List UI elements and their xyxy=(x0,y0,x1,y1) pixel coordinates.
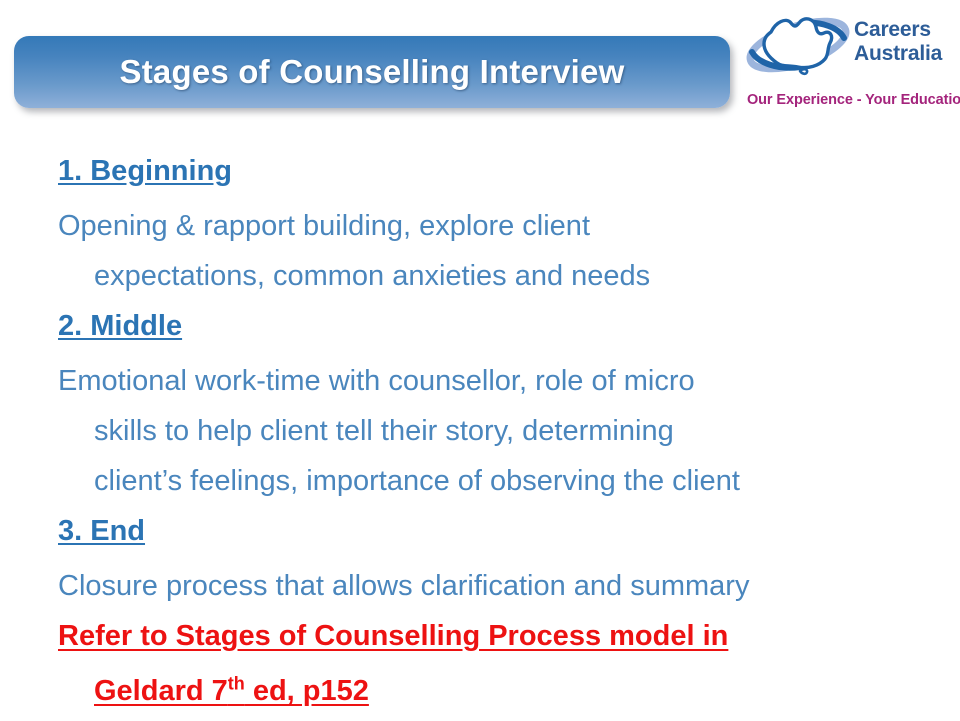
section-heading-row: 3. End xyxy=(58,506,918,561)
logo-brand-line-2: Australia xyxy=(854,42,942,66)
page-title: Stages of Counselling Interview xyxy=(120,53,625,91)
australia-map-swoosh-icon xyxy=(744,8,852,82)
logo-tagline: Our Experience - Your Education xyxy=(747,92,954,108)
reference-row: Refer to Stages of Counselling Process m… xyxy=(58,611,918,666)
section-heading-end: 3. End xyxy=(58,506,145,556)
logo-brand-line-1: Careers xyxy=(854,18,942,42)
section-heading-row: 2. Middle xyxy=(58,301,918,356)
logo-top-row: Careers Australia xyxy=(742,6,954,86)
section-heading-middle: 2. Middle xyxy=(58,301,182,351)
section-body-line: client’s feelings, importance of observi… xyxy=(58,456,918,506)
reference-line-2: Geldard 7th ed, p152 xyxy=(94,666,369,716)
reference-prefix: Geldard 7 xyxy=(94,675,228,707)
reference-suffix: ed, p152 xyxy=(245,675,369,707)
section-body-line: skills to help client tell their story, … xyxy=(58,406,918,456)
reference-line-1: Refer to Stages of Counselling Process m… xyxy=(58,611,728,661)
section-body-line: Emotional work-time with counsellor, rol… xyxy=(58,356,918,406)
reference-row: Geldard 7th ed, p152 xyxy=(58,666,918,721)
careers-australia-logo: Careers Australia Our Experience - Your … xyxy=(742,6,954,118)
section-body-line: Closure process that allows clarificatio… xyxy=(58,561,918,611)
section-heading-beginning: 1. Beginning xyxy=(58,146,232,196)
section-heading-row: 1. Beginning xyxy=(58,146,918,201)
logo-wordmark: Careers Australia xyxy=(854,18,942,65)
slide-title-banner: Stages of Counselling Interview xyxy=(14,36,730,108)
section-body-line: Opening & rapport building, explore clie… xyxy=(58,201,918,251)
slide-body: 1. Beginning Opening & rapport building,… xyxy=(58,146,918,721)
reference-superscript: th xyxy=(228,673,245,693)
section-body-line: expectations, common anxieties and needs xyxy=(58,251,918,301)
